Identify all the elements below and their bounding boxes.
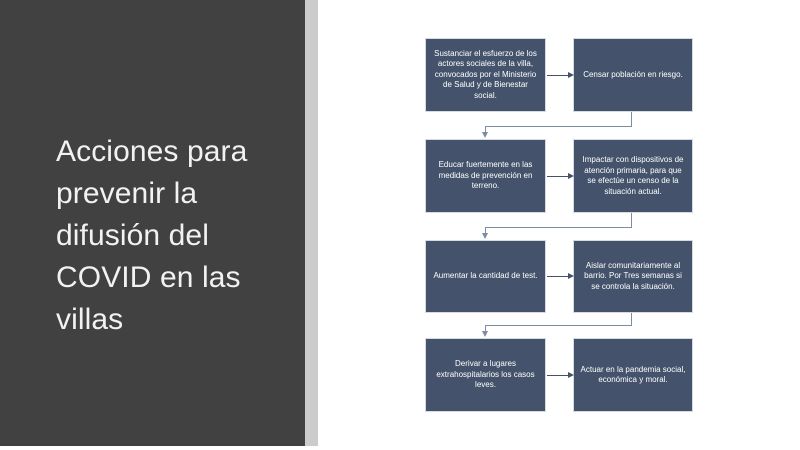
arrow-head-icon-r1 xyxy=(568,72,574,78)
connector-elbow-vertical-r2 xyxy=(631,213,632,227)
accent-divider-strip xyxy=(305,0,318,446)
connector-elbow-horizontal-r1 xyxy=(485,126,632,127)
arrow-head-icon-r2 xyxy=(568,173,574,179)
flow-node-r2-left[interactable]: Educar fuertemente en las medidas de pre… xyxy=(425,139,546,213)
flow-node-r1-left[interactable]: Sustanciar el esfuerzo de los actores so… xyxy=(425,38,546,112)
connector-elbow-horizontal-r2 xyxy=(485,227,632,228)
flow-node-r3-left[interactable]: Aumentar la cantidad de test. xyxy=(425,240,546,313)
arrow-head-icon-r3 xyxy=(568,273,574,279)
flow-node-r3-right[interactable]: Aislar comunitariamente al barrio. Por T… xyxy=(573,240,693,313)
connector-arrow-r2 xyxy=(547,176,569,177)
slide-canvas: Acciones para prevenir la difusión del C… xyxy=(0,0,800,450)
flow-node-r2-right[interactable]: Impactar con dispositivos de atención pr… xyxy=(573,139,693,213)
flow-node-r1-right[interactable]: Censar población en riesgo. xyxy=(573,38,693,112)
flow-node-r4-right[interactable]: Actuar en la pandemia social, económica … xyxy=(573,338,693,412)
arrow-head-icon-r4 xyxy=(568,372,574,378)
connector-elbow-vertical-r3 xyxy=(631,313,632,325)
arrow-head-icon-elbow-r1 xyxy=(482,132,488,138)
connector-arrow-r4 xyxy=(547,375,569,376)
arrow-head-icon-elbow-r3 xyxy=(482,331,488,337)
connector-elbow-vertical-r1 xyxy=(631,112,632,126)
connector-elbow-horizontal-r3 xyxy=(485,325,632,326)
page-title: Acciones para prevenir la difusión del C… xyxy=(56,131,291,341)
flow-node-r4-left[interactable]: Derivar a lugares extrahospitalarios los… xyxy=(425,338,546,412)
connector-arrow-r3 xyxy=(547,276,569,277)
flowchart: Sustanciar el esfuerzo de los actores so… xyxy=(318,0,800,450)
connector-arrow-r1 xyxy=(547,75,569,76)
arrow-head-icon-elbow-r2 xyxy=(482,233,488,239)
